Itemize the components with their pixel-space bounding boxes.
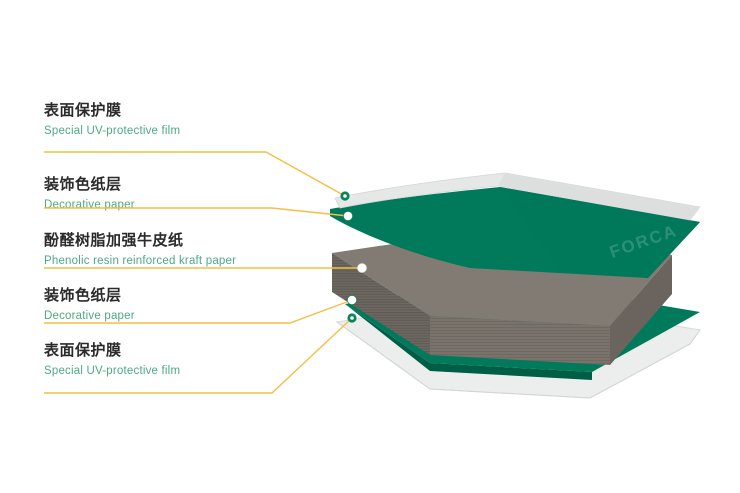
leader-dot-kraft-core: [357, 263, 366, 272]
leader-dot-top-decor-paper: [343, 211, 352, 220]
leader-line-top-decor-paper: [44, 208, 348, 216]
panel-artwork: FORCA: [0, 0, 740, 493]
leader-dot-bottom-decor-paper: [347, 295, 356, 304]
leader-line-bottom-uv-film: [44, 318, 352, 393]
leader-line-top-uv-film: [44, 152, 345, 196]
leader-lines: [44, 152, 362, 393]
layered-panel-diagram: 表面保护膜 Special UV-protective film 装饰色纸层 D…: [0, 0, 740, 493]
leader-line-bottom-decor-paper: [44, 300, 352, 323]
